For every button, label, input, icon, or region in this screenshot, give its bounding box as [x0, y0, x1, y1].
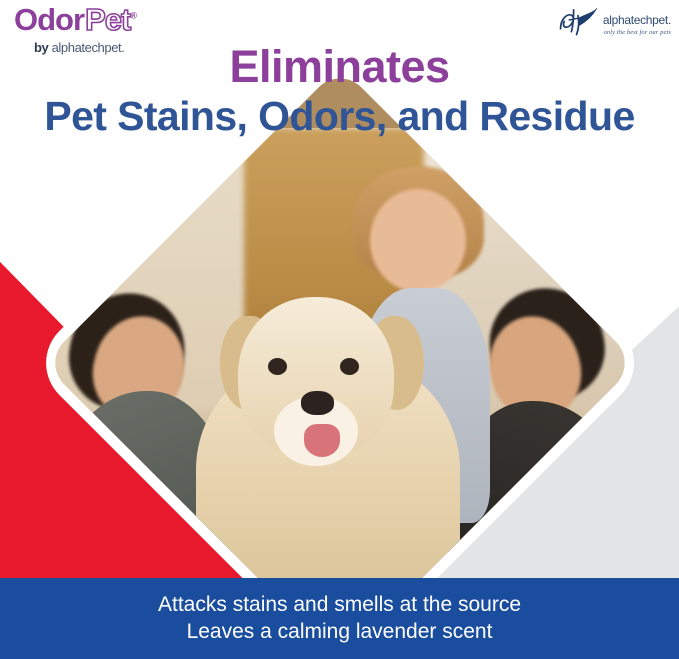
photo-dog-tongue [304, 424, 340, 457]
atp-script-mark-icon [556, 4, 600, 36]
photo-dog-nose [301, 391, 334, 415]
product-poster: OdorPet® by alphatechpet. alphatechpet. … [0, 0, 679, 659]
photo-dog-eye-left [268, 358, 287, 375]
bottom-claims-banner: Attacks stains and smells at the source … [0, 578, 679, 659]
alphatechpet-tagline: only the best for our pets [603, 29, 671, 36]
registered-trademark-icon: ® [130, 11, 136, 21]
odorpet-byline-prefix: by [34, 40, 48, 55]
headline-secondary: Pet Stains, Odors, and Residue [0, 96, 679, 137]
alphatechpet-text-block: alphatechpet. only the best for our pets [603, 4, 671, 36]
odorpet-wordmark: OdorPet® [14, 4, 194, 35]
alphatechpet-logo: alphatechpet. only the best for our pets [556, 4, 671, 36]
alphatechpet-name: alphatechpet. [603, 14, 671, 26]
banner-claim-line-1: Attacks stains and smells at the source [158, 593, 521, 618]
photo-girl-head [370, 189, 466, 292]
odorpet-logo: OdorPet® by alphatechpet. [14, 4, 194, 55]
odorpet-byline-brand: alphatechpet. [52, 40, 125, 55]
photo-dog-eye-right [340, 358, 359, 375]
banner-claim-line-2: Leaves a calming lavender scent [187, 620, 493, 645]
odorpet-wordmark-pet: Pet [85, 2, 130, 37]
odorpet-wordmark-odor: Odor [14, 2, 84, 37]
odorpet-byline: by alphatechpet. [34, 40, 194, 55]
